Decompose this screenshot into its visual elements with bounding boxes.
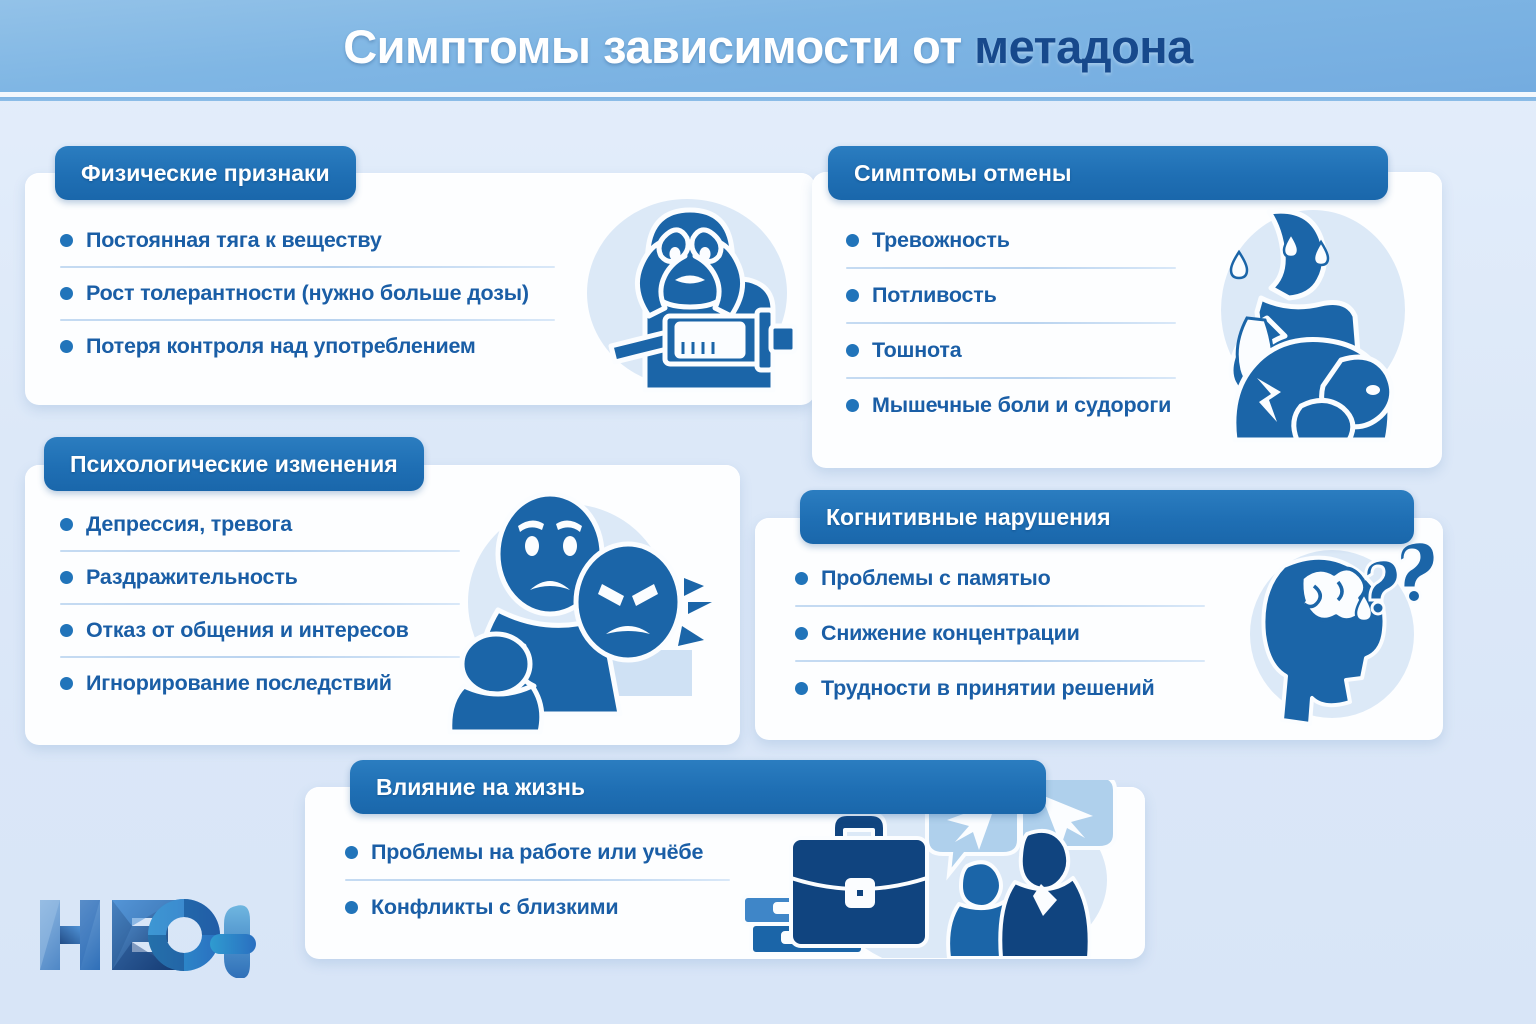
list-item-label: Конфликты с близкими [371,895,618,920]
list-divider [60,266,555,268]
card-physical-signs-title: Физические признаки [55,146,356,200]
bullet-icon [60,340,73,353]
list-item-label: Проблемы на работе или учёбе [371,840,703,865]
bullet-icon [60,677,73,690]
bullet-icon [60,518,73,531]
list-divider [60,319,555,321]
page-header: Симптомы зависимости от метадона [0,0,1536,92]
card-title-label: Влияние на жизнь [376,774,585,801]
card-title-label: Физические признаки [81,160,330,187]
list-item: Депрессия, тревога [60,512,480,537]
list-item-label: Проблемы с памятыо [821,566,1051,591]
card-physical-signs-list: Постоянная тяга к веществу Рост толерант… [60,228,560,359]
list-item: Тревожность [846,228,1246,253]
bullet-icon [846,289,859,302]
list-item: Трудности в принятии решений [795,676,1225,701]
bullet-icon [345,846,358,859]
bullet-icon [846,344,859,357]
list-item: Игнорирование последствий [60,671,480,696]
header-divider [0,92,1536,97]
list-divider [846,322,1176,324]
list-item: Потеря контроля над употреблением [60,334,560,359]
card-life-impact-title: Влияние на жизнь [350,760,1046,814]
head-with-brain-question-marks-icon [1240,542,1436,732]
list-item-label: Отказ от общения и интересов [86,618,409,643]
list-item: Потливость [846,283,1246,308]
list-item-label: Трудности в принятии решений [821,676,1155,701]
card-withdrawal-symptoms-title: Симптомы отмены [828,146,1388,200]
list-item: Тошнота [846,338,1246,363]
bullet-icon [846,234,859,247]
list-item-label: Тревожность [872,228,1010,253]
list-item-label: Постоянная тяга к веществу [86,228,382,253]
list-divider [795,605,1205,607]
list-item-label: Мышечные боли и судороги [872,393,1171,418]
list-divider [795,660,1205,662]
card-life-impact-list: Проблемы на работе или учёбе Конфликты с… [345,840,745,920]
page-title: Симптомы зависимости от метадона [343,19,1193,74]
list-item: Раздражительность [60,565,480,590]
bullet-icon [60,234,73,247]
list-item: Рост толерантности (нужно больше дозы) [60,281,560,306]
list-item-label: Депрессия, тревога [86,512,292,537]
list-divider [846,267,1176,269]
stressed-person-with-syringe-icon [575,190,800,395]
list-item: Постоянная тяга к веществу [60,228,560,253]
bullet-icon [795,572,808,585]
list-item: Снижение концентрации [795,621,1225,646]
neo-plus-logo [34,892,256,983]
list-item-label: Потливость [872,283,997,308]
infographic-canvas: Симптомы зависимости от метадона Физичес… [0,0,1536,1024]
list-item-label: Снижение концентрации [821,621,1080,646]
bullet-icon [846,399,859,412]
page-title-primary: Симптомы зависимости от [343,20,974,73]
list-divider [60,550,460,552]
bullet-icon [795,682,808,695]
bullet-icon [345,901,358,914]
list-item-label: Потеря контроля над употреблением [86,334,476,359]
card-title-label: Психологические изменения [70,451,398,478]
card-title-label: Когнитивные нарушения [826,504,1111,531]
list-item: Проблемы на работе или учёбе [345,840,745,865]
card-psychological-changes-list: Депрессия, тревога Раздражительность Отк… [60,512,480,696]
card-cognitive-impairment-list: Проблемы с памятыо Снижение концентрации… [795,566,1225,701]
list-divider [60,603,460,605]
card-cognitive-impairment-title: Когнитивные нарушения [800,490,1414,544]
list-item: Мышечные боли и судороги [846,393,1246,418]
list-divider [846,377,1176,379]
list-item: Конфликты с близкими [345,895,745,920]
list-item-label: Игнорирование последствий [86,671,392,696]
bullet-icon [60,624,73,637]
page-title-accent: метадона [974,20,1193,73]
bullet-icon [60,571,73,584]
list-item-label: Рост толерантности (нужно больше дозы) [86,281,529,306]
list-item: Отказ от общения и интересов [60,618,480,643]
list-divider [345,879,730,881]
list-item-label: Раздражительность [86,565,298,590]
sad-and-angry-faces-icon [440,490,730,735]
card-psychological-changes-title: Психологические изменения [44,437,424,491]
list-divider [60,656,460,658]
bullet-icon [60,287,73,300]
list-item: Проблемы с памятыо [795,566,1225,591]
bullet-icon [795,627,808,640]
card-title-label: Симптомы отмены [854,160,1072,187]
card-withdrawal-symptoms-list: Тревожность Потливость Тошнота Мышечные … [846,228,1246,418]
list-item-label: Тошнота [872,338,962,363]
